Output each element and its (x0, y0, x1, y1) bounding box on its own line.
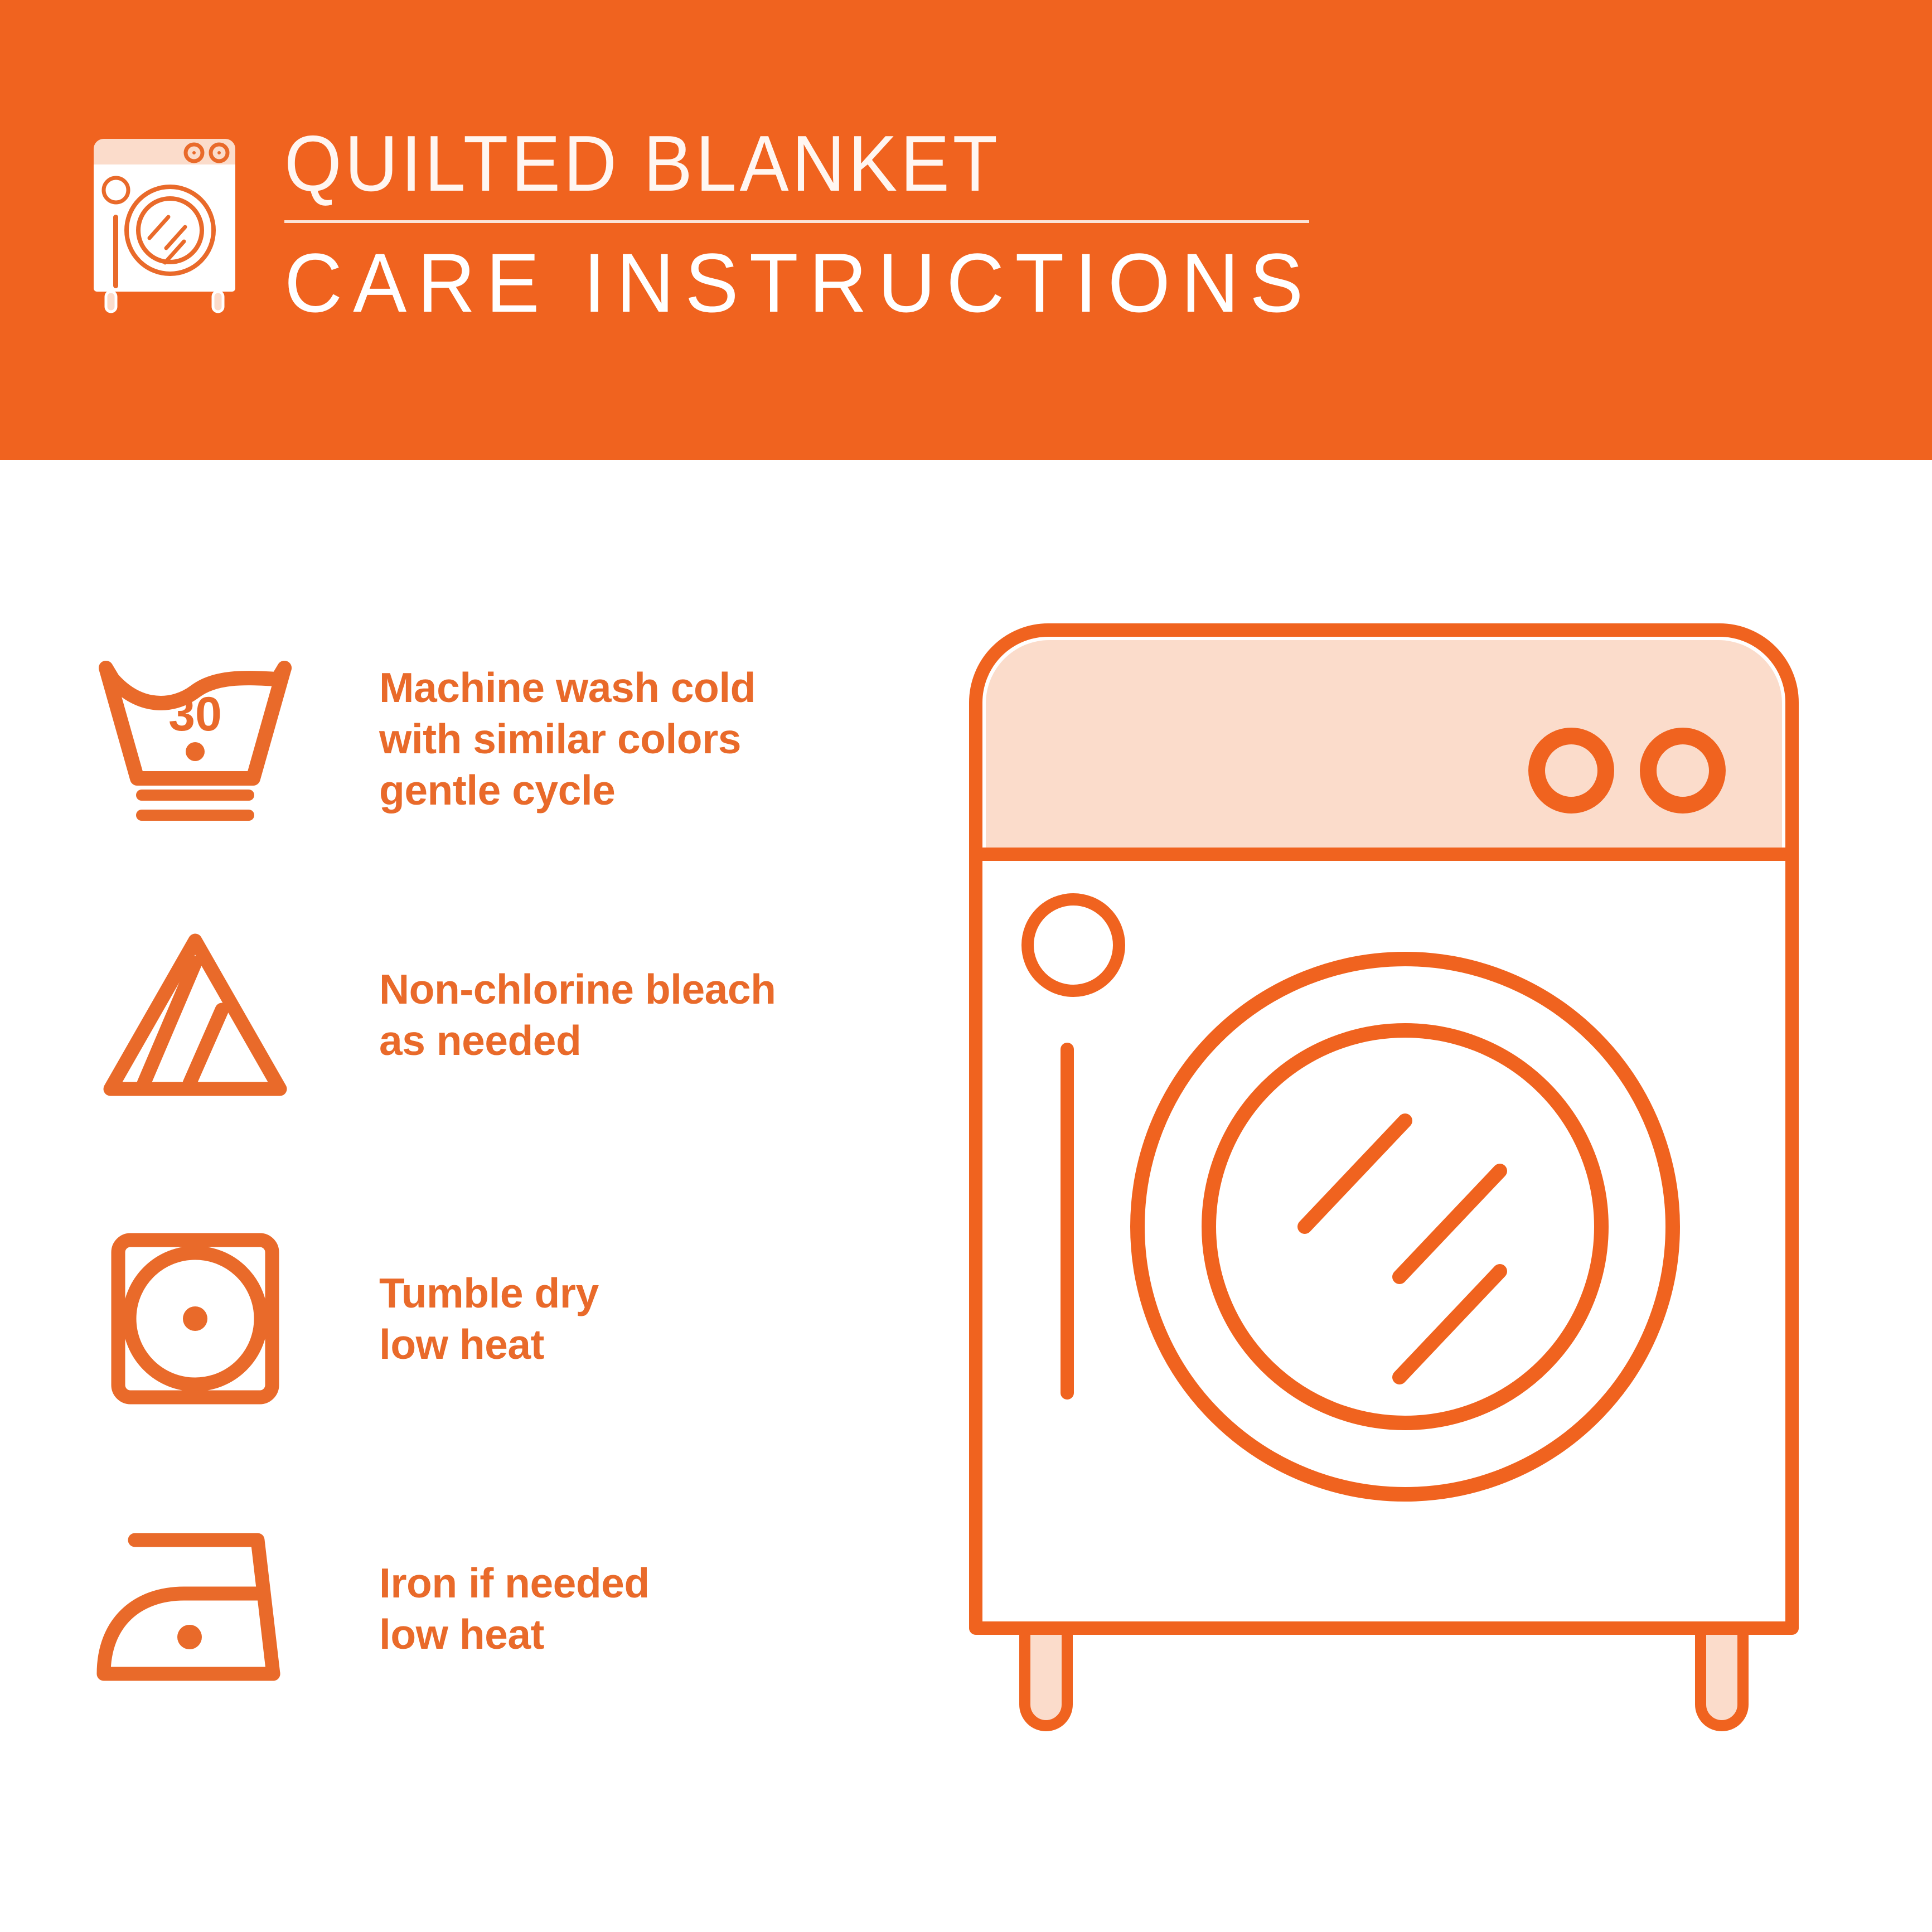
washing-machine-icon (84, 130, 245, 314)
header-content: QUILTED BLANKET CARE INSTRUCTIONS (84, 120, 1338, 354)
care-row-bleach: Non-chlorine bleach as needed (84, 923, 920, 1107)
svg-text:30: 30 (168, 687, 222, 741)
page-title: QUILTED BLANKET (284, 120, 1282, 208)
care-text-machine-wash: Machine wash cold with similar colors ge… (379, 662, 920, 816)
title-divider (284, 220, 1309, 223)
main-content: 30 Machine wash cold with similar colors… (0, 460, 1932, 1932)
care-text-bleach: Non-chlorine bleach as needed (379, 963, 920, 1066)
header-titles: QUILTED BLANKET CARE INSTRUCTIONS (284, 120, 1357, 329)
header-band: QUILTED BLANKET CARE INSTRUCTIONS (0, 0, 1932, 460)
washing-machine-illustration (959, 613, 1862, 1840)
care-row-iron: Iron if needed low heat (84, 1517, 920, 1701)
care-row-tumble-dry: Tumble dry low heat (84, 1227, 920, 1411)
care-text-iron: Iron if needed low heat (379, 1557, 920, 1660)
page-subtitle: CARE INSTRUCTIONS (284, 236, 1314, 329)
bleach-triangle-icon (84, 923, 307, 1107)
care-row-machine-wash: 30 Machine wash cold with similar colors… (84, 647, 920, 831)
care-text-tumble-dry: Tumble dry low heat (379, 1267, 920, 1370)
iron-icon (84, 1517, 307, 1701)
wash-tub-30-icon: 30 (84, 647, 307, 831)
tumble-dry-icon (84, 1227, 307, 1411)
